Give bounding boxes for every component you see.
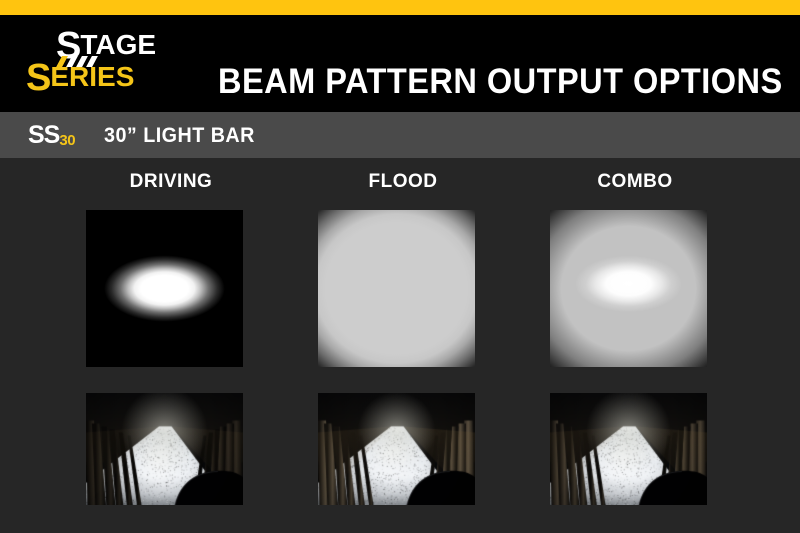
flood-beam-pattern	[318, 210, 475, 367]
combo-road-canvas	[550, 393, 707, 505]
top-accent-bar	[0, 0, 800, 15]
driving-road-photo	[86, 393, 243, 505]
page-header: STAGE SERIES BEAM PATTERN OUTPUT OPTIONS	[0, 15, 800, 112]
logo-series-capital: S	[26, 57, 50, 99]
beam-column-flood: FLOOD	[287, 158, 519, 533]
driving-road-canvas	[86, 393, 243, 505]
column-title-combo: COMBO	[519, 171, 751, 193]
beam-column-combo: COMBO	[519, 158, 751, 533]
flood-beam-glow	[318, 210, 475, 367]
beam-column-driving: DRIVING	[55, 158, 287, 533]
beam-comparison-grid: DRIVING FLOOD COMBO	[0, 158, 800, 533]
driving-beam-glow	[86, 210, 243, 367]
model-prefix: SS	[28, 121, 59, 149]
column-title-driving: DRIVING	[55, 171, 287, 193]
combo-road-photo	[550, 393, 707, 505]
logo-series-rest: ERIES	[50, 61, 134, 92]
model-number: 30	[59, 132, 75, 149]
infographic-page: STAGE SERIES BEAM PATTERN OUTPUT OPTIONS…	[0, 0, 800, 533]
flood-road-canvas	[318, 393, 475, 505]
page-title: BEAM PATTERN OUTPUT OPTIONS	[218, 63, 783, 101]
product-label: 30” LIGHT BAR	[104, 125, 255, 147]
logo-word-series: SERIES	[26, 60, 134, 94]
combo-beam-glow	[550, 210, 707, 367]
combo-beam-pattern	[550, 210, 707, 367]
flood-road-photo	[318, 393, 475, 505]
model-badge: SS30	[28, 123, 75, 153]
stage-series-logo: STAGE SERIES	[26, 28, 186, 100]
column-title-flood: FLOOD	[287, 171, 519, 193]
driving-beam-pattern	[86, 210, 243, 367]
product-subheader: SS30 30” LIGHT BAR	[0, 112, 800, 158]
